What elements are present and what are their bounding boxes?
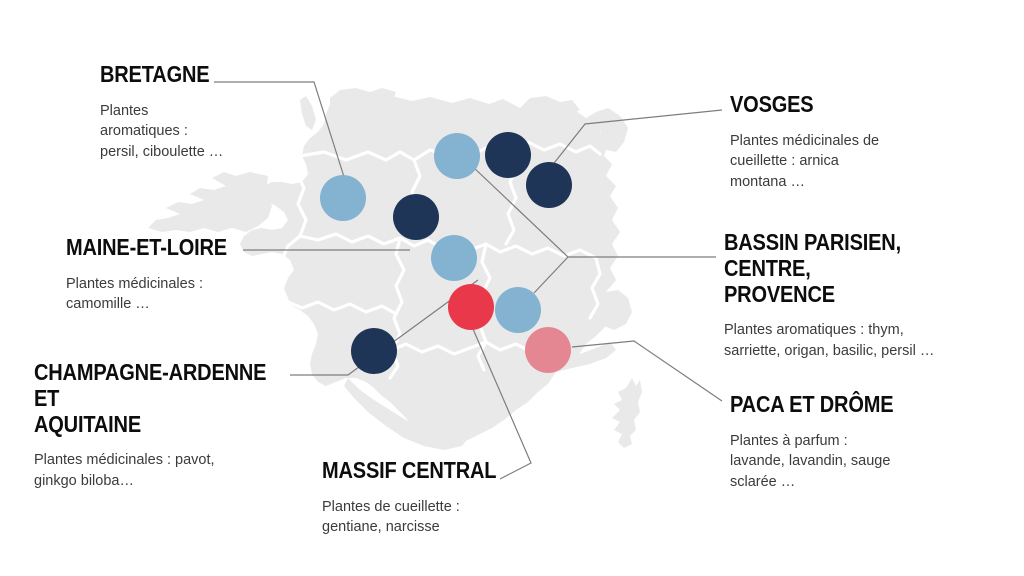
callout-paca-drome-body: Plantes à parfum : lavande, lavandin, sa… (730, 431, 980, 493)
callout-vosges-title: VOSGES (730, 92, 948, 118)
callout-vosges: VOSGES Plantes médicinales de cueillette… (730, 92, 980, 192)
marker-vosges-ouest[interactable] (485, 132, 531, 178)
marker-aquitaine[interactable] (351, 328, 397, 374)
callout-paca-drome-title: PACA ET DRÔME (730, 392, 948, 418)
callout-bassin-parisien-title: BASSIN PARISIEN, CENTRE, PROVENCE (724, 230, 968, 307)
callout-maine-et-loire-body: Plantes médicinales : camomille … (66, 274, 296, 315)
callout-maine-et-loire: MAINE-ET-LOIRE Plantes médicinales : cam… (66, 235, 296, 315)
callout-vosges-body: Plantes médicinales de cueillette : arni… (730, 131, 980, 193)
marker-maine-et-loire[interactable] (393, 194, 439, 240)
callout-massif-central-body: Plantes de cueillette : gentiane, narcis… (322, 497, 582, 538)
callout-massif-central: MASSIF CENTRAL Plantes de cueillette : g… (322, 458, 582, 538)
infographic-france-plantes: BRETAGNE Plantes aromatiques : persil, c… (0, 0, 1024, 576)
callout-champagne-ardenne: CHAMPAGNE-ARDENNE ET AQUITAINE Plantes m… (34, 360, 334, 491)
callout-champagne-ardenne-title: CHAMPAGNE-ARDENNE ET AQUITAINE (34, 360, 295, 437)
marker-rhone[interactable] (495, 287, 541, 333)
callout-bretagne: BRETAGNE Plantes aromatiques : persil, c… (100, 62, 290, 162)
marker-massif-central[interactable] (448, 284, 494, 330)
marker-paca-drome[interactable] (525, 327, 571, 373)
callout-bassin-parisien: BASSIN PARISIEN, CENTRE, PROVENCE Plante… (724, 230, 1004, 361)
marker-bretagne[interactable] (320, 175, 366, 221)
callout-bretagne-title: BRETAGNE (100, 62, 265, 88)
callout-bassin-parisien-body: Plantes aromatiques : thym, sarriette, o… (724, 320, 1004, 361)
callout-champagne-ardenne-body: Plantes médicinales : pavot, ginkgo bilo… (34, 450, 334, 491)
marker-bassin-nord[interactable] (434, 133, 480, 179)
callout-massif-central-title: MASSIF CENTRAL (322, 458, 548, 484)
marker-centre[interactable] (431, 235, 477, 281)
marker-vosges[interactable] (526, 162, 572, 208)
callout-maine-et-loire-title: MAINE-ET-LOIRE (66, 235, 266, 261)
callout-paca-drome: PACA ET DRÔME Plantes à parfum : lavande… (730, 392, 980, 492)
callout-bretagne-body: Plantes aromatiques : persil, ciboulette… (100, 101, 290, 163)
